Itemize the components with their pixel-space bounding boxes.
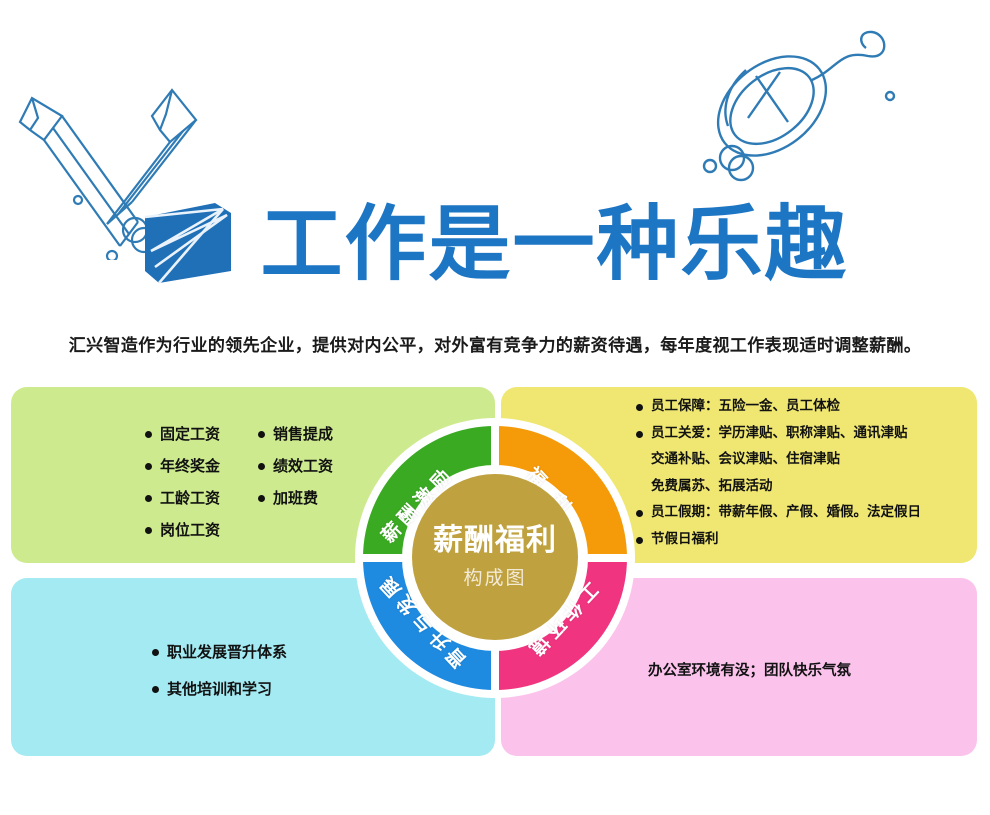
page-title: 工作是一种乐趣: [260, 204, 848, 286]
bullet-dot-icon: [145, 463, 152, 470]
bullet-dot-icon: [636, 431, 643, 438]
donut-hub-subtitle: 构成图: [463, 563, 526, 590]
list-item: 加班费: [258, 491, 333, 506]
headline-block: 工作是一种乐趣: [0, 185, 990, 305]
list-item: 绩效工资: [258, 459, 333, 474]
salary-benefits-donut-chart: 薪酬激励 福 利 工作环境 晋升与发展 薪酬福利 构成图: [355, 412, 635, 704]
list-item: 年终奖金: [145, 459, 220, 474]
list-item: 员工保障： 五险一金、员工体检: [636, 400, 966, 414]
work-environment-text: 办公室环境有没；团队快乐气氛: [648, 659, 968, 680]
bullet-dot-icon: [145, 527, 152, 534]
list-item: 免费属苏、拓展活动: [651, 480, 966, 494]
compensation-column-1: 固定工资 年终奖金 工龄工资 岗位工资: [145, 427, 220, 555]
list-item: 工龄工资: [145, 491, 220, 506]
welfare-list: 员工保障： 五险一金、员工体检 员工关爱： 学历津贴、职称津贴、通讯津贴 交通补…: [636, 400, 966, 559]
list-item: 销售提成: [258, 427, 333, 442]
bullet-dot-icon: [145, 431, 152, 438]
bullet-dot-icon: [152, 686, 159, 693]
donut-center-hub: 薪酬福利 构成图: [412, 474, 578, 640]
list-item: 固定工资: [145, 427, 220, 442]
list-item: 员工假期： 带薪年假、产假、婚假。法定假日: [636, 506, 966, 520]
compensation-column-2: 销售提成 绩效工资 加班费: [258, 427, 333, 555]
bullet-dot-icon: [152, 649, 159, 656]
bullet-dot-icon: [636, 537, 643, 544]
computer-mouse-doodle-icon: [660, 10, 950, 194]
poster-canvas: 工作是一种乐趣 汇兴智造作为行业的领先企业，提供对内公平，对外富有竞争力的薪资待…: [0, 0, 990, 815]
bullet-dot-icon: [145, 495, 152, 502]
welfare-care-extra-lines: 交通补贴、会议津贴、住宿津贴 免费属苏、拓展活动: [651, 453, 966, 493]
bullet-dot-icon: [636, 510, 643, 517]
list-item: 交通补贴、会议津贴、住宿津贴: [651, 453, 966, 467]
list-item: 岗位工资: [145, 523, 220, 538]
bullet-dot-icon: [258, 495, 265, 502]
envelope-diamond-logo-icon: [141, 201, 236, 290]
list-item: 节假日福利: [636, 533, 966, 547]
page-subtitle: 汇兴智造作为行业的领先企业，提供对内公平，对外富有竞争力的薪资待遇，每年度视工作…: [0, 331, 990, 356]
list-item: 员工关爱： 学历津贴、职称津贴、通讯津贴: [636, 427, 966, 441]
donut-hub-title: 薪酬福利: [433, 524, 557, 557]
compensation-incentive-list: 固定工资 年终奖金 工龄工资 岗位工资 销售提成 绩效工资 加班费: [145, 427, 385, 555]
bullet-dot-icon: [636, 404, 643, 411]
bullet-dot-icon: [258, 431, 265, 438]
bullet-dot-icon: [258, 463, 265, 470]
